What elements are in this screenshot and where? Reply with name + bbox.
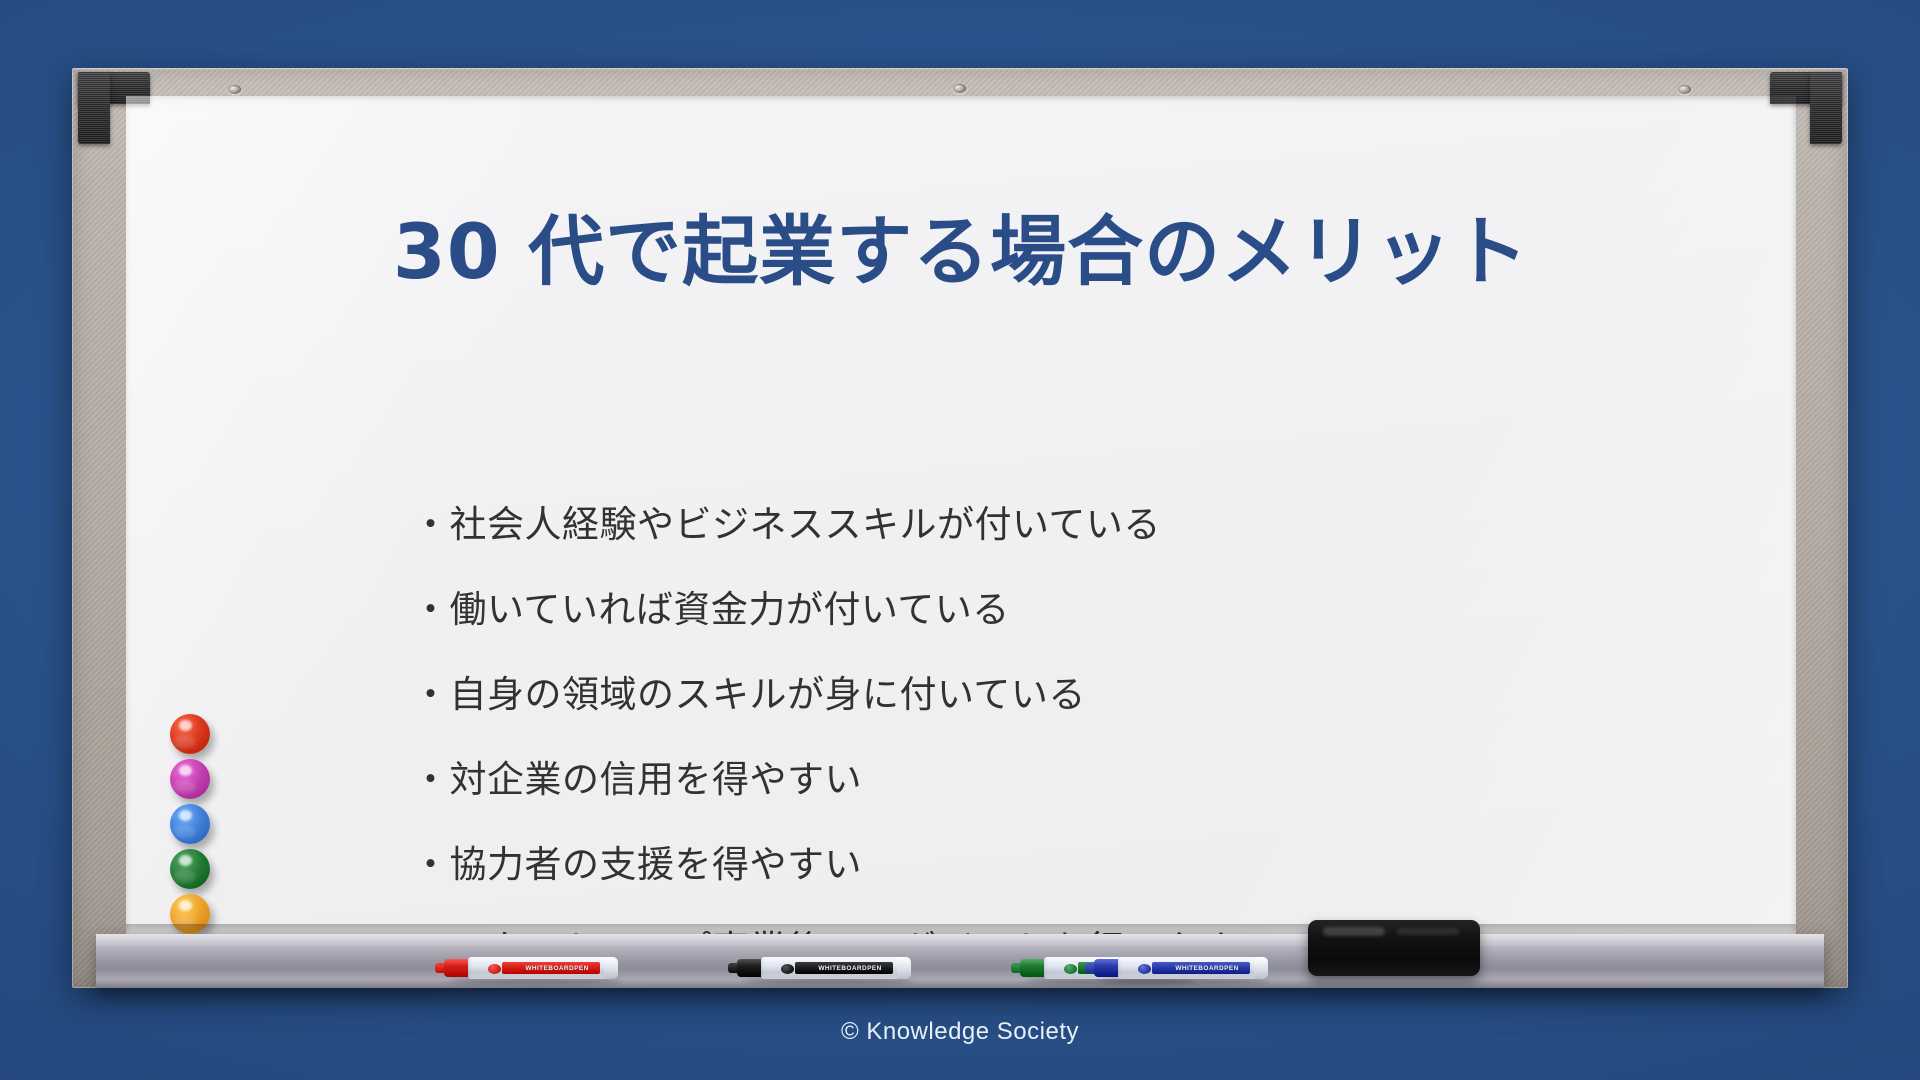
marker-end-cap xyxy=(604,957,618,979)
board-eraser[interactable] xyxy=(1308,920,1480,976)
green-magnet[interactable] xyxy=(170,849,210,889)
corner-bracket-vertical xyxy=(78,72,110,144)
list-item: ・協力者の支援を得やすい xyxy=(412,822,1752,907)
marker-label: WHITEBOARDPEN xyxy=(514,965,600,973)
marker-label: WHITEBOARDPEN xyxy=(807,965,893,973)
magenta-magnet[interactable] xyxy=(170,759,210,799)
frame-screw-top-left xyxy=(228,85,241,94)
marker-color-dot xyxy=(1064,964,1077,974)
copyright-footer: © Knowledge Society xyxy=(0,1018,1920,1046)
pen-tray-lip xyxy=(96,934,1824,946)
benefits-list: ・社会人経験やビジネススキルが付いている ・働いていれば資金力が付いている ・自… xyxy=(412,482,1752,992)
marker-label: WHITEBOARDPEN xyxy=(1164,965,1250,973)
marker-body: WHITEBOARDPEN xyxy=(468,957,614,979)
list-item: ・社会人経験やビジネススキルが付いている xyxy=(412,482,1752,567)
list-item: ・働いていれば資金力が付いている xyxy=(412,567,1752,652)
red-magnet[interactable] xyxy=(170,714,210,754)
marker-cap xyxy=(737,959,763,977)
marker-body: WHITEBOARDPEN xyxy=(1118,957,1264,979)
page-title: 30 代で起業する場合のメリット xyxy=(126,208,1796,296)
corner-bracket-vertical xyxy=(1810,72,1842,144)
marker-end-cap xyxy=(1254,957,1268,979)
marker-color-dot xyxy=(1138,964,1151,974)
blue-magnet[interactable] xyxy=(170,804,210,844)
list-item: ・対企業の信用を得やすい xyxy=(412,737,1752,822)
list-item: ・自身の領域のスキルが身に付いている xyxy=(412,652,1752,737)
marker-cap xyxy=(1094,959,1120,977)
marker-end-cap xyxy=(897,957,911,979)
marker-color-dot xyxy=(781,964,794,974)
slide-content: 30 代で起業する場合のメリット ・社会人経験やビジネススキルが付いている ・働… xyxy=(126,96,1796,934)
frame-screw-top-center xyxy=(953,84,966,93)
marker-body: WHITEBOARDPEN xyxy=(761,957,907,979)
presentation-slide: 30 代で起業する場合のメリット ・社会人経験やビジネススキルが付いている ・働… xyxy=(0,0,1920,1080)
marker-color-dot xyxy=(488,964,501,974)
marker-cap xyxy=(1020,959,1046,977)
marker-cap xyxy=(444,959,470,977)
frame-screw-top-right xyxy=(1678,85,1691,94)
